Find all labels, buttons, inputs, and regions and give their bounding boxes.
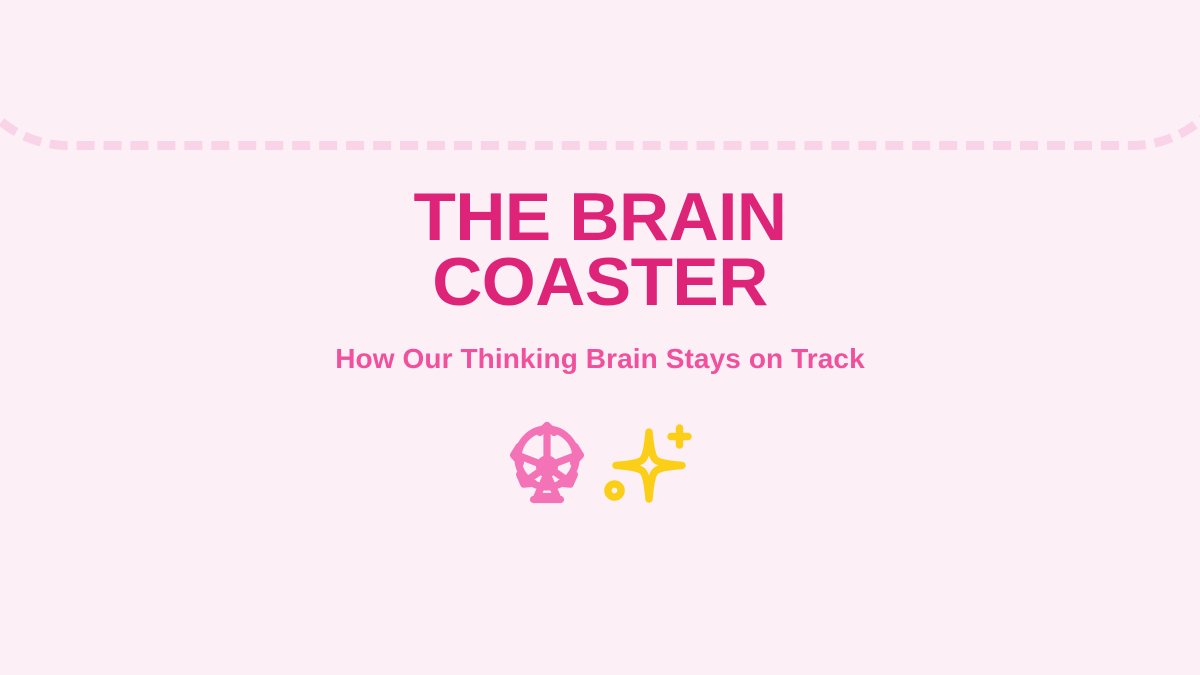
- sparkle-icon: [604, 420, 692, 511]
- ferris-wheel-icon: [508, 420, 586, 511]
- page-title: THE BRAIN COASTER: [212, 0, 987, 316]
- page-subtitle: How Our Thinking Brain Stays on Track: [335, 316, 865, 376]
- title-slide: THE BRAIN COASTER How Our Thinking Brain…: [0, 0, 1200, 675]
- icon-row: [508, 375, 692, 511]
- slide-content: THE BRAIN COASTER How Our Thinking Brain…: [0, 0, 1200, 675]
- page-title-line-1: THE BRAIN: [212, 185, 987, 250]
- page-title-line-2: COASTER: [212, 250, 987, 315]
